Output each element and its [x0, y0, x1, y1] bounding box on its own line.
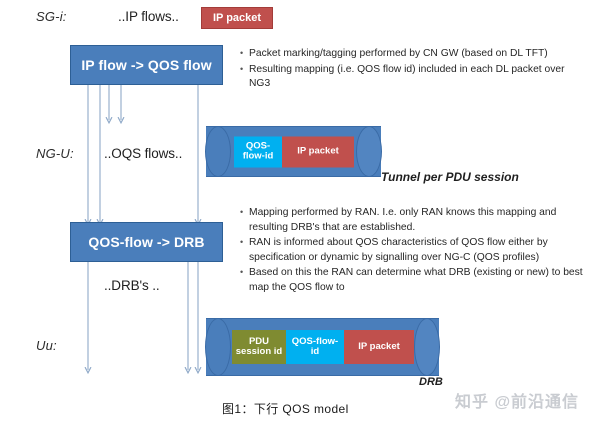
- bullet-icon: •: [240, 47, 249, 61]
- note-item: • RAN is informed about QOS characterist…: [240, 236, 585, 265]
- tunnel-cap-left: [205, 318, 231, 376]
- tunnel-ngu-caption: Tunnel per PDU session: [381, 170, 519, 184]
- note-item: • Packet marking/tagging performed by CN…: [240, 47, 585, 62]
- note-text: Based on this the RAN can determine what…: [249, 266, 585, 295]
- note-text: Packet marking/tagging performed by CN G…: [249, 47, 585, 62]
- segment-ip-packet: IP packet: [282, 136, 354, 167]
- bullet-icon: •: [240, 266, 249, 280]
- interface-label-uu: Uu:: [36, 338, 57, 353]
- diagram-canvas: SG-i: ..IP flows.. IP packet IP flow -> …: [0, 0, 600, 424]
- tunnel-drb-payload: PDU session id QOS-flow-id IP packet: [232, 330, 414, 364]
- bullet-icon: •: [240, 206, 249, 220]
- tunnel-drb-caption: DRB: [419, 376, 443, 388]
- segment-ip-packet: IP packet: [344, 330, 414, 364]
- interface-label-sgi: SG-i:: [36, 9, 67, 24]
- note-item: • Mapping performed by RAN. I.e. only RA…: [240, 206, 585, 235]
- mapping-box-ip-to-qos-label: IP flow -> QOS flow: [81, 57, 211, 73]
- mapping-box-qos-to-drb-label: QOS-flow -> DRB: [88, 234, 204, 250]
- tunnel-drb: PDU session id QOS-flow-id IP packet: [206, 318, 439, 376]
- interface-label-ngu: NG-U:: [36, 146, 74, 161]
- tunnel-ngu: QOS-flow-id IP packet: [206, 126, 381, 177]
- segment-pdu-session-id: PDU session id: [232, 330, 286, 364]
- tunnel-cap-right: [356, 126, 382, 177]
- tunnel-cap-left: [205, 126, 231, 177]
- segment-qos-flow-id: QOS-flow-id: [286, 330, 344, 364]
- notes-block-ran: • Mapping performed by RAN. I.e. only RA…: [240, 206, 585, 297]
- mapping-box-qos-to-drb[interactable]: QOS-flow -> DRB: [70, 222, 223, 262]
- mapping-box-ip-to-qos[interactable]: IP flow -> QOS flow: [70, 45, 223, 85]
- bullet-icon: •: [240, 63, 249, 77]
- notes-block-cn-gw: • Packet marking/tagging performed by CN…: [240, 47, 585, 93]
- flow-label-ip-flows: ..IP flows..: [118, 9, 179, 24]
- top-ip-packet-label: IP packet: [213, 12, 261, 24]
- note-text: Resulting mapping (i.e. QOS flow id) inc…: [249, 63, 585, 92]
- flow-label-qos-flows: ..OQS flows..: [104, 146, 182, 161]
- note-text: Mapping performed by RAN. I.e. only RAN …: [249, 206, 585, 235]
- bullet-icon: •: [240, 236, 249, 250]
- figure-caption: 图1：下行 QOS model: [222, 400, 349, 417]
- watermark: 知乎 @前沿通信: [455, 388, 579, 412]
- flow-label-drbs: ..DRB's ..: [104, 278, 160, 293]
- tunnel-cap-right: [414, 318, 440, 376]
- tunnel-ngu-payload: QOS-flow-id IP packet: [234, 136, 354, 167]
- top-ip-packet-chip: IP packet: [201, 7, 273, 29]
- note-text: RAN is informed about QOS characteristic…: [249, 236, 585, 265]
- note-item: • Resulting mapping (i.e. QOS flow id) i…: [240, 63, 585, 92]
- segment-qos-flow-id: QOS-flow-id: [234, 136, 282, 167]
- note-item: • Based on this the RAN can determine wh…: [240, 266, 585, 295]
